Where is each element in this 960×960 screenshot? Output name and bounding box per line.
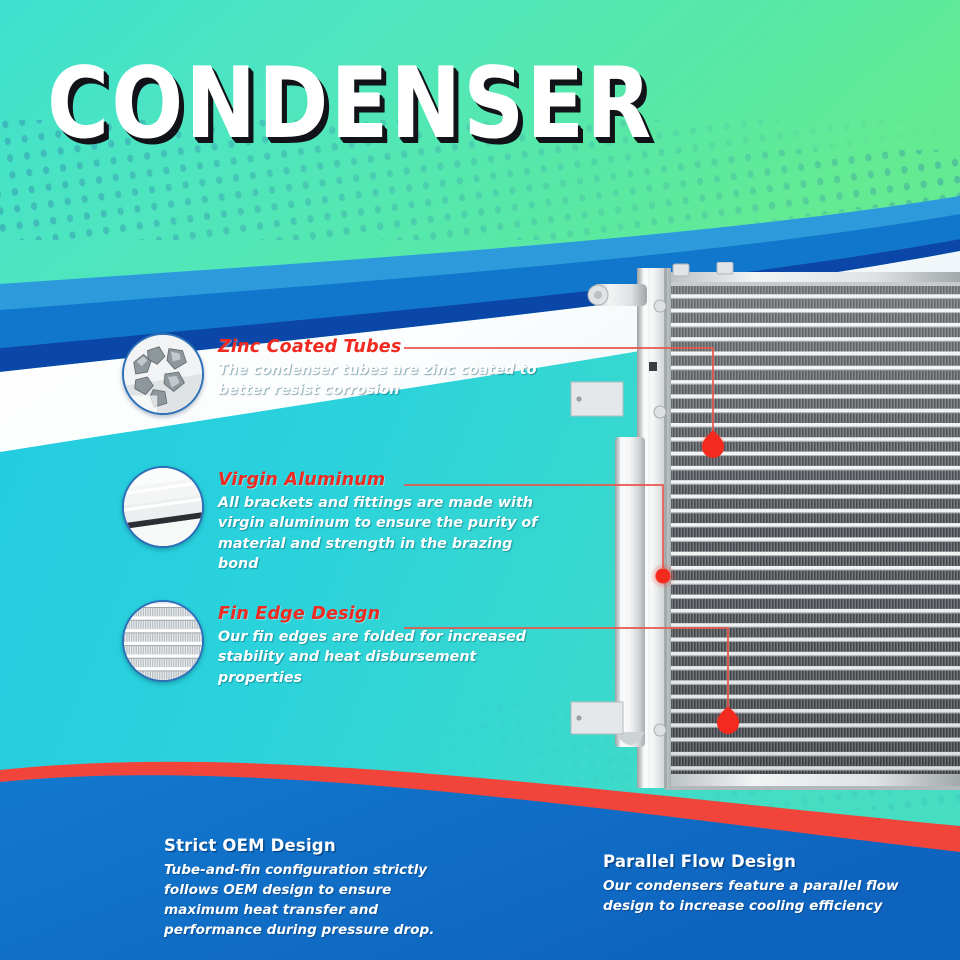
feature-body: Our fin edges are folded for increased s… <box>218 627 548 688</box>
feature-callout-zinc-coated-tubes[interactable]: Zinc Coated Tubes The condenser tubes ar… <box>122 333 548 415</box>
feature-text-block: Virgin Aluminum All brackets and fitting… <box>218 466 548 574</box>
fin-edge-thumbnail <box>122 600 204 682</box>
bottom-block-body: Our condensers feature a parallel flow d… <box>603 877 903 917</box>
feature-body: All brackets and fittings are made with … <box>218 493 548 574</box>
feature-text-block: Fin Edge Design Our fin edges are folded… <box>218 600 548 688</box>
aluminum-tube-thumbnail <box>122 466 204 548</box>
condenser-illustration <box>565 262 960 807</box>
feature-callout-virgin-aluminum[interactable]: Virgin Aluminum All brackets and fitting… <box>122 466 548 574</box>
feature-heading: Virgin Aluminum <box>218 470 385 490</box>
feature-heading: Zinc Coated Tubes <box>218 337 402 357</box>
bottom-block-body: Tube-and-fin configuration strictly foll… <box>164 861 464 940</box>
bottom-block-heading: Strict OEM Design <box>164 836 464 855</box>
bottom-block-heading: Parallel Flow Design <box>603 852 903 871</box>
bottom-block-parallel-flow-design: Parallel Flow Design Our condensers feat… <box>603 852 903 917</box>
feature-callout-fin-edge-design[interactable]: Fin Edge Design Our fin edges are folded… <box>122 600 548 688</box>
feature-body: The condenser tubes are zinc coated to b… <box>218 360 548 401</box>
feature-text-block: Zinc Coated Tubes The condenser tubes ar… <box>218 333 548 401</box>
feature-heading-row: Virgin Aluminum <box>218 470 548 490</box>
ac-condenser-product-image <box>565 262 960 807</box>
feature-heading-row: Zinc Coated Tubes <box>218 337 548 357</box>
bottom-block-strict-oem-design: Strict OEM Design Tube-and-fin configura… <box>164 836 464 940</box>
poster-canvas: CONDENSER <box>0 0 960 960</box>
zinc-chunks-thumbnail <box>122 333 204 415</box>
feature-heading: Fin Edge Design <box>218 604 380 624</box>
feature-heading-row: Fin Edge Design <box>218 604 548 624</box>
